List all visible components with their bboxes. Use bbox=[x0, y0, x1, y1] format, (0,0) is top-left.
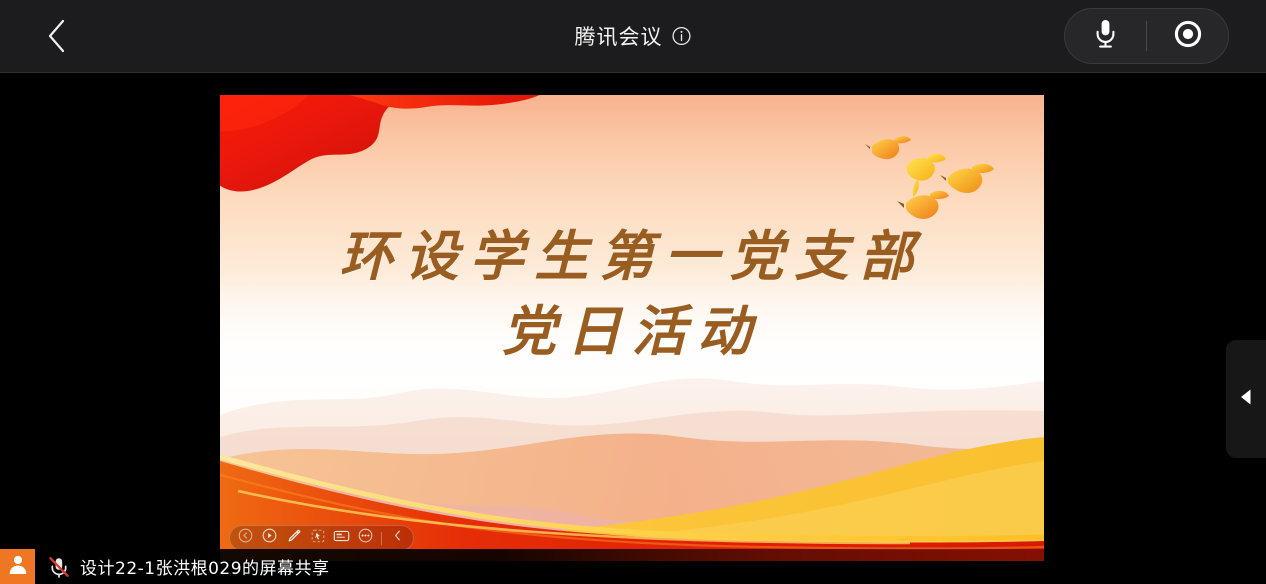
shared-slide[interactable]: 环设学生第一党支部 党日活动 bbox=[220, 95, 1044, 561]
pen-button[interactable] bbox=[283, 528, 304, 549]
share-status-text: 设计22-1张洪根029的屏幕共享 bbox=[80, 554, 330, 579]
record-button[interactable] bbox=[1147, 9, 1228, 63]
more-options-button[interactable] bbox=[355, 528, 376, 549]
meeting-screen: 腾讯会议 bbox=[0, 0, 1266, 584]
info-circle-icon[interactable] bbox=[672, 26, 692, 46]
avatar[interactable] bbox=[0, 549, 35, 584]
back-button[interactable] bbox=[34, 14, 78, 58]
screen-share-status-bar: 设计22-1张洪根029的屏幕共享 bbox=[0, 549, 1266, 584]
mic-toggle-button[interactable] bbox=[1065, 9, 1146, 63]
person-icon bbox=[7, 553, 29, 580]
chevron-left-icon bbox=[45, 18, 67, 54]
red-silk-flag-icon bbox=[220, 95, 546, 211]
laser-pointer-button[interactable] bbox=[307, 528, 328, 549]
ppt-presenter-toolbar bbox=[229, 525, 414, 551]
header-title-group: 腾讯会议 bbox=[575, 21, 692, 51]
pen-icon bbox=[286, 528, 302, 549]
microphone-muted-icon bbox=[47, 555, 71, 579]
microphone-icon bbox=[1092, 17, 1119, 56]
chevron-left-small-icon bbox=[392, 529, 403, 547]
page-title: 腾讯会议 bbox=[575, 21, 663, 51]
ellipsis-icon bbox=[358, 528, 373, 548]
circle-play-icon bbox=[262, 528, 277, 548]
record-dot-icon bbox=[1172, 18, 1204, 55]
participants-drawer-handle[interactable] bbox=[1226, 340, 1266, 458]
ppt-toolbar-divider bbox=[381, 532, 382, 545]
next-slide-button[interactable] bbox=[259, 528, 280, 549]
prev-slide-button[interactable] bbox=[235, 528, 256, 549]
circle-left-icon bbox=[238, 528, 253, 548]
triangle-left-icon bbox=[1238, 387, 1254, 412]
meeting-controls-pill bbox=[1064, 8, 1229, 64]
collapse-toolbar-button[interactable] bbox=[387, 528, 408, 549]
slide-rect-icon bbox=[333, 529, 350, 548]
flying-doves-icon bbox=[864, 131, 1014, 236]
laser-pointer-icon bbox=[310, 528, 326, 549]
slide-view-button[interactable] bbox=[331, 528, 352, 549]
shared-screen-stage: 环设学生第一党支部 党日活动 bbox=[0, 73, 1266, 584]
share-info-strip: 设计22-1张洪根029的屏幕共享 bbox=[35, 549, 1266, 584]
app-header: 腾讯会议 bbox=[0, 0, 1266, 73]
